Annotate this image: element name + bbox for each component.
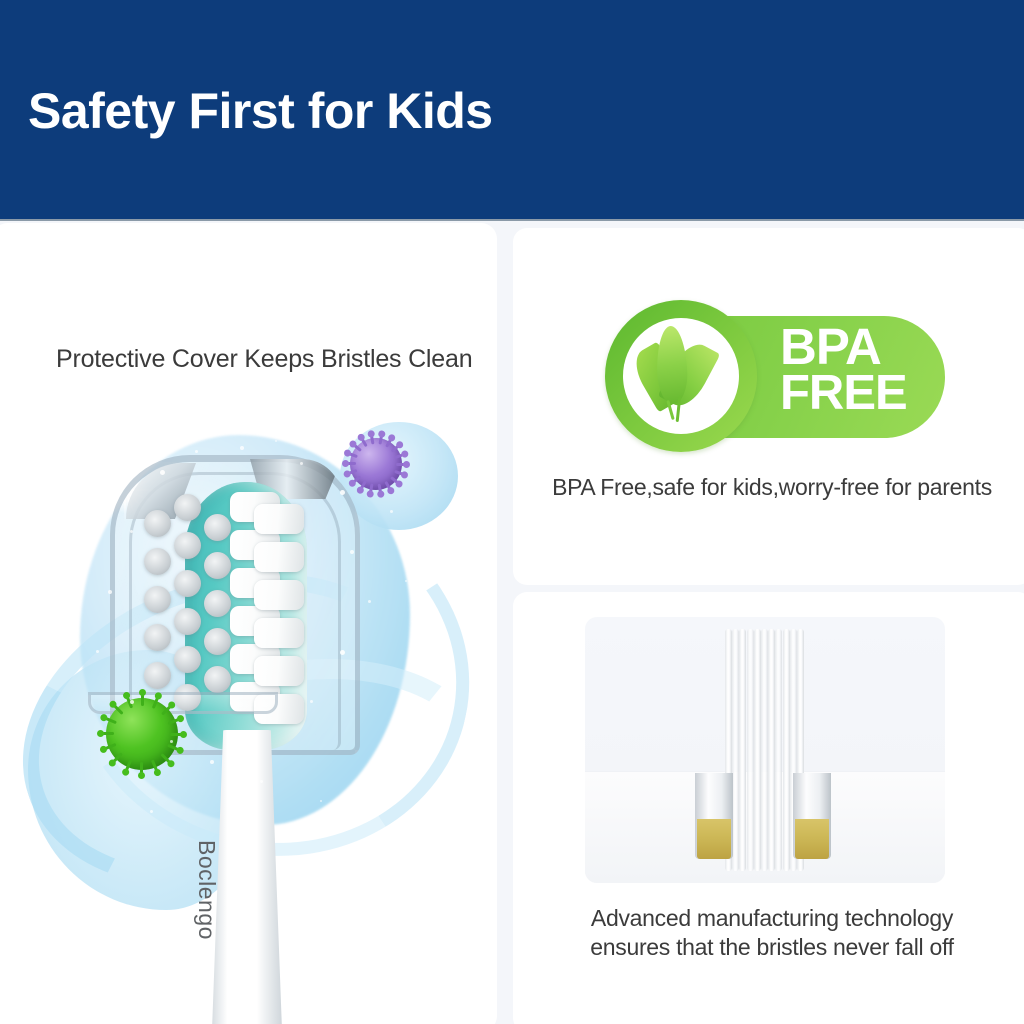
bristle-tuft [174, 532, 201, 559]
bubble [405, 580, 407, 582]
bubble [340, 650, 345, 655]
bristle-tuft [204, 514, 231, 541]
bpa-free-badge-icon: BPA FREE [605, 300, 945, 452]
bubble [320, 800, 322, 802]
bristle-tuft [174, 646, 201, 673]
bubble [108, 590, 112, 594]
bristle-tuft [254, 656, 304, 686]
bristle-tuft [254, 580, 304, 610]
germ-green-icon [106, 698, 178, 770]
bubble [368, 600, 371, 603]
germ-purple-icon [350, 438, 402, 490]
bristle-tuft [204, 666, 231, 693]
bristle-tuft [254, 542, 304, 572]
header-banner: Safety First for Kids [0, 0, 1024, 221]
bubble [130, 530, 133, 533]
toothbrush-illustration: Boclengo [10, 400, 480, 1024]
bristle-filament [783, 629, 790, 871]
anchor-staple-left [695, 773, 733, 859]
bristle-filament [754, 629, 761, 871]
bubble [350, 550, 354, 554]
bristle-filament [768, 629, 775, 871]
bubble [150, 810, 153, 813]
bristle-caption-line1: Advanced manufacturing technology [522, 904, 1022, 933]
bubble [170, 740, 173, 743]
protective-cover-caption: Protective Cover Keeps Bristles Clean [56, 345, 472, 374]
bubble [240, 446, 244, 450]
bubble [160, 470, 165, 475]
bristle-tuft [144, 586, 171, 613]
bpa-caption: BPA Free,safe for kids,worry-free for pa… [522, 474, 1022, 501]
bristle-filament [732, 629, 739, 871]
bubble [195, 450, 198, 453]
bristle-caption-line2: ensures that the bristles never fall off [522, 933, 1022, 962]
bristle-tuft [204, 628, 231, 655]
bristle-tuft [174, 608, 201, 635]
product-infographic: Safety First for Kids Protective Cover K… [0, 0, 1024, 1024]
bubble [310, 700, 313, 703]
bristle-filament [747, 629, 754, 871]
bristle-tuft [204, 552, 231, 579]
bristle-anchor-caption: Advanced manufacturing technology ensure… [522, 904, 1022, 961]
bristle-anchor-photo [585, 617, 945, 883]
bpa-badge-text: BPA FREE [780, 324, 940, 416]
bristle-filament [775, 629, 782, 871]
anchor-staple-right [793, 773, 831, 859]
bristle-tuft [254, 618, 304, 648]
bubble [340, 490, 345, 495]
bpa-badge-line2: FREE [780, 371, 940, 416]
bubble [130, 700, 134, 704]
bpa-badge-line1: BPA [780, 324, 940, 371]
bubble [300, 462, 303, 465]
bristle-filament [739, 629, 746, 871]
bristle-tuft [204, 590, 231, 617]
brand-label: Boclengo [193, 840, 220, 940]
bristle-filament [761, 629, 768, 871]
bubble [96, 650, 99, 653]
bubble [275, 440, 277, 442]
bristle-tuft [254, 504, 304, 534]
bubble [210, 760, 214, 764]
bristle-tuft [144, 624, 171, 651]
page-title: Safety First for Kids [28, 86, 493, 136]
bristle-tuft [144, 662, 171, 689]
bristle-tuft [144, 548, 171, 575]
bristle-tuft [144, 510, 171, 537]
bristle-tuft [174, 570, 201, 597]
bristle-tuft [174, 494, 201, 521]
bubble [390, 510, 393, 513]
bubble [85, 560, 87, 562]
bubble [260, 780, 263, 783]
brush-handle [212, 730, 282, 1024]
